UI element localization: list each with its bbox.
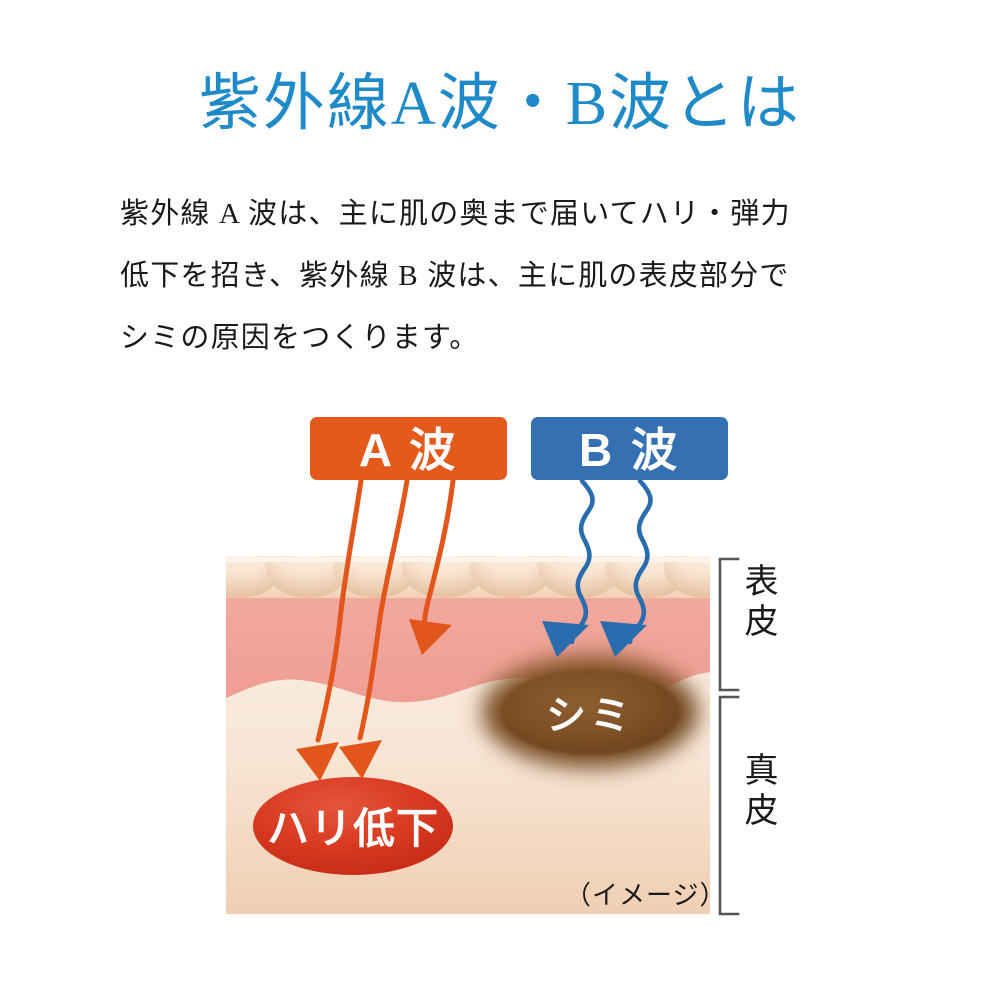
layer-label-epidermis: 表皮 — [740, 563, 774, 643]
infographic-root: 紫外線A波・B波とは 紫外線 A 波は、主に肌の奥まで届いてハリ・弾力 低下を招… — [0, 0, 1000, 1000]
skin-cross-section-diagram — [0, 0, 1000, 1000]
callout-label-hari-teika: ハリ低下 — [243, 795, 463, 856]
diagram-caption: （イメージ） — [565, 875, 726, 912]
layer-brackets — [720, 559, 738, 914]
bracket-epidermis — [720, 559, 738, 690]
layer-label-dermis: 真皮 — [740, 752, 774, 832]
callout-label-shimi: シミ — [510, 683, 670, 741]
corneocyte-bumps — [198, 538, 748, 598]
